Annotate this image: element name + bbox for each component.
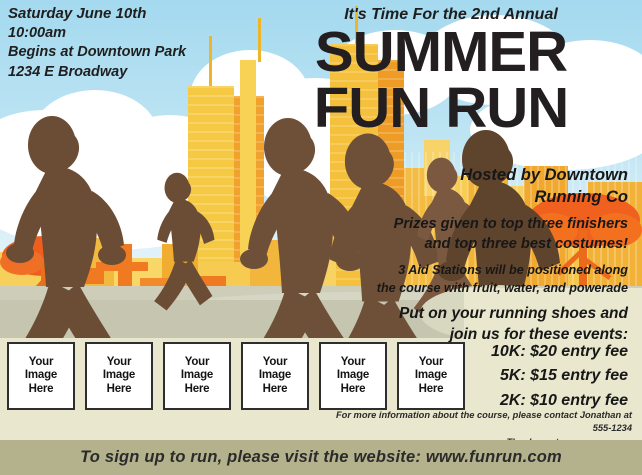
placeholder-line-3: Here bbox=[185, 383, 210, 397]
runner-figure bbox=[154, 173, 214, 311]
placeholder-line-2: Image bbox=[103, 369, 135, 383]
placeholder-line-2: Image bbox=[337, 369, 369, 383]
footer-bar: To sign up to run, please visit the webs… bbox=[0, 440, 642, 475]
placeholder-line-3: Here bbox=[419, 383, 444, 397]
event-flyer: Saturday June 10th 10:00am Begins at Dow… bbox=[0, 0, 642, 475]
aid-stations-info: 3 Aid Stations will be positioned along … bbox=[370, 262, 628, 297]
image-placeholder-box[interactable]: Your Image Here bbox=[397, 342, 465, 410]
placeholder-line-1: Your bbox=[419, 356, 444, 370]
cta-line-1: Put on your running shoes and bbox=[370, 303, 628, 324]
aid-line-1: 3 Aid Stations will be positioned along bbox=[370, 262, 628, 280]
prizes-info: Prizes given to top three finishers and … bbox=[370, 214, 628, 254]
placeholder-line-3: Here bbox=[341, 383, 366, 397]
headline-title-line2: FUN RUN bbox=[240, 80, 642, 137]
placeholder-line-2: Image bbox=[181, 369, 213, 383]
image-placeholder-box[interactable]: Your Image Here bbox=[241, 342, 309, 410]
placeholder-line-2: Image bbox=[259, 369, 291, 383]
placeholder-line-1: Your bbox=[107, 356, 132, 370]
placeholder-line-3: Here bbox=[107, 383, 132, 397]
aid-line-2: the course with fruit, water, and powera… bbox=[370, 280, 628, 298]
footer-website-text: To sign up to run, please visit the webs… bbox=[80, 448, 562, 467]
host-line-1: Hosted by Downtown bbox=[382, 165, 628, 187]
event-location: Begins at Downtown Park bbox=[8, 43, 238, 62]
image-placeholder-box[interactable]: Your Image Here bbox=[163, 342, 231, 410]
event-info: Saturday June 10th 10:00am Begins at Dow… bbox=[8, 4, 238, 82]
placeholder-line-1: Your bbox=[185, 356, 210, 370]
headline-title-line1: SUMMER bbox=[240, 24, 642, 81]
prizes-line-1: Prizes given to top three finishers bbox=[370, 214, 628, 234]
placeholder-line-2: Image bbox=[415, 369, 447, 383]
placeholder-line-3: Here bbox=[263, 383, 288, 397]
placeholder-line-2: Image bbox=[25, 369, 57, 383]
placeholder-line-1: Your bbox=[341, 356, 366, 370]
host-info: Hosted by Downtown Running Co bbox=[382, 165, 628, 209]
contact-line: For more information about the course, p… bbox=[320, 409, 632, 436]
event-date: Saturday June 10th bbox=[8, 4, 238, 24]
host-line-2: Running Co bbox=[382, 187, 628, 209]
placeholder-line-3: Here bbox=[29, 383, 54, 397]
image-placeholder-box[interactable]: Your Image Here bbox=[85, 342, 153, 410]
placeholder-line-1: Your bbox=[29, 356, 54, 370]
image-placeholder-box[interactable]: Your Image Here bbox=[7, 342, 75, 410]
prizes-line-2: and top three best costumes! bbox=[370, 234, 628, 254]
image-placeholder-box[interactable]: Your Image Here bbox=[319, 342, 387, 410]
event-time: 10:00am bbox=[8, 24, 238, 43]
event-address: 1234 E Broadway bbox=[8, 63, 238, 82]
placeholder-line-1: Your bbox=[263, 356, 288, 370]
